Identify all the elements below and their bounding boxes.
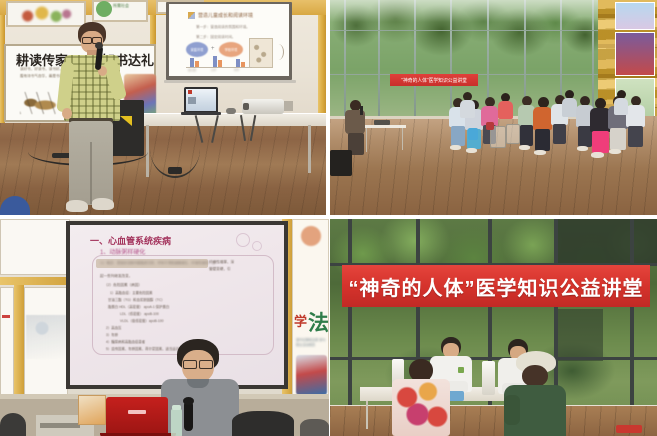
foot	[577, 146, 588, 151]
slide-body-4: LDL（低密度） apoB-100	[120, 311, 159, 316]
presenter-shoe-left	[66, 200, 88, 212]
projector-mount-arm	[284, 101, 293, 111]
poster-char-xue: 学	[294, 311, 307, 330]
slide-logo-mark	[188, 12, 195, 19]
slide-line-2: 起一些列继发改变。	[100, 274, 132, 279]
attendee-head-far-right	[300, 419, 329, 436]
panel-bottom-right-registration: “神奇的人体”医学知识公益讲堂	[330, 219, 657, 436]
whiteboard-left-bottom	[0, 287, 14, 397]
lecturer-glasses-left	[183, 360, 197, 369]
whiteboard-marker-red	[2, 315, 10, 318]
slide-decor-circle-2	[252, 241, 262, 251]
classroom-slide-scene: 一、心血管系统疾病 1、动脉粥样硬化 （1）概念：是指在动脉内膜脂质沉积，伴有平…	[0, 219, 329, 436]
slide-bar-2a	[213, 56, 217, 67]
slide-heading: 一、心血管系统疾病	[90, 234, 171, 247]
visitor-1	[392, 359, 450, 436]
handbag-blue	[468, 128, 478, 140]
torso	[392, 379, 450, 436]
wall-poster-middle	[615, 32, 655, 76]
slide-plus-sign: +	[211, 46, 215, 52]
poster-card-on-desk	[78, 395, 106, 425]
glass-mullion-v5	[630, 219, 634, 436]
registration-table-leg-left	[366, 401, 368, 429]
torso	[498, 101, 513, 119]
slide-body-0: （2）危险因素（病因）	[104, 283, 142, 288]
audience-member-4	[460, 92, 476, 124]
slide-title: 营造儿童成长和阅读环境	[198, 12, 253, 19]
poster-right-art-bottom	[296, 355, 327, 395]
red-object-on-floor	[616, 425, 642, 433]
foot	[609, 149, 621, 154]
torso	[562, 98, 577, 117]
handbag-red	[486, 122, 494, 130]
cable-adapter-box	[168, 167, 182, 174]
slide-bar-axis	[186, 67, 252, 68]
poster-right-subtext: 遵守纪律和法规 参与职业活动规范	[296, 337, 328, 347]
slide-circle-home: 家庭环境	[186, 42, 208, 57]
slide-circle-school-label: 学校环境	[225, 47, 238, 52]
presenter-glasses-left	[82, 37, 92, 44]
glass-mullion-h2	[330, 357, 657, 360]
panel-bottom-left-lecturer: 一、心血管系统疾病 1、动脉粥样硬化 （1）概念：是指在动脉内膜脂质沉积，伴有平…	[0, 219, 329, 436]
slide-circle-home-label: 家庭环境	[191, 47, 204, 52]
glass-glare	[330, 0, 598, 22]
slide-circle-school: 学校环境	[219, 42, 243, 57]
legs	[451, 126, 465, 146]
screen-roller-bar	[164, 80, 296, 83]
event-banner: “神奇的人体”医学知识公益讲堂	[390, 74, 478, 86]
visitor-arm	[504, 395, 520, 425]
whiteboard-left-top	[0, 219, 70, 275]
panel-top-left-speaker: 所需社会 耕读传家 知书达礼 读好书，好读书，读书好。 腹有诗书气自华，最是书香…	[0, 0, 326, 215]
registration-scene: “神奇的人体”医学知识公益讲堂	[330, 219, 657, 436]
red-laptop-lid	[106, 397, 168, 435]
stool-2	[506, 124, 520, 144]
torso	[460, 100, 475, 118]
presenter-shoe-right	[92, 198, 114, 210]
slide-sound-arc	[273, 44, 284, 60]
slide-body-5: VLDL（极低密度）apoB-100	[120, 318, 164, 323]
slide-body-2: 甘油三酯（TG）和血浆胆固醇（TC）	[108, 297, 165, 302]
legs	[553, 124, 566, 144]
poster-right-art-top	[296, 221, 326, 251]
water-bottle	[171, 409, 182, 436]
slide-decor-circle-1	[236, 233, 250, 247]
slide-body-7: 3）年龄	[106, 332, 118, 337]
projector-lens	[243, 103, 249, 110]
slide-body-1: 1）高脂血症：主要危险因素	[110, 290, 153, 295]
slide-body-8: 4）糖尿病和高脂血症患者	[106, 339, 145, 344]
dark-glass-panel-upper-right	[555, 219, 657, 265]
legs	[520, 125, 533, 146]
slide-line-2: 第二步：固定阅读时间。	[196, 35, 236, 40]
slide-body-6: 2）高血压	[106, 325, 121, 330]
lecturer-glasses-right	[199, 360, 213, 369]
foot	[534, 150, 546, 155]
slide-body-3: 脂蛋白 HDL（高密度） apoA-1 保护蛋白	[108, 304, 169, 309]
wall-pillar-right	[318, 15, 326, 127]
black-equipment-case	[330, 150, 352, 176]
atrium-scene: “神奇的人体”医学知识公益讲堂	[330, 0, 657, 215]
microphone-head	[95, 42, 103, 49]
slide-bar-2b	[218, 60, 222, 67]
uniform-badge	[458, 367, 464, 373]
measuring-device-right	[482, 361, 495, 395]
indoor-floor-planks	[330, 406, 657, 436]
poster-top-mid-text: 所需社会	[113, 3, 129, 9]
slide-bar-label-2: 小学	[211, 68, 216, 72]
slide-plus-label: +	[211, 46, 215, 52]
laptop-screen-logo	[188, 90, 192, 94]
poster-art-children	[14, 4, 76, 24]
attendee-head-front-left	[0, 413, 26, 436]
panel-top-right-audience: “神奇的人体”医学知识公益讲堂	[330, 0, 657, 215]
torso	[614, 98, 628, 115]
table-laptop	[374, 120, 390, 125]
mullion-horizontal-top	[330, 30, 598, 31]
event-banner-text: “神奇的人体”医学知识公益讲堂	[401, 77, 467, 84]
audience-member-12	[626, 96, 646, 154]
slide-bar-label-3: 中学	[234, 68, 239, 72]
visitor-2	[504, 351, 566, 436]
table-leg-right	[308, 125, 311, 173]
head	[522, 365, 548, 387]
wall-poster-upper	[615, 2, 655, 30]
registration-banner: “神奇的人体”医学知识公益讲堂	[342, 265, 650, 307]
desk-microphone	[184, 401, 193, 431]
audience-member-6	[533, 97, 553, 155]
foot	[450, 145, 461, 150]
slide-line-after-highlight: 纤维性增厚、深	[209, 260, 234, 265]
desk-microphone-head	[183, 397, 194, 405]
presenter-table-right-panel	[363, 125, 406, 128]
laptop-base	[181, 112, 221, 115]
trouser-crease	[90, 142, 92, 204]
slide-bar-label-1: 幼儿园	[188, 68, 196, 72]
poster-char-fa: 法	[308, 307, 329, 337]
desktop-computer-panel	[40, 423, 80, 428]
presenter-seated-mic	[360, 106, 363, 115]
slide-highlight-text: （1）概念：是指在动脉内膜脂质沉积，伴有平滑肌细胞增生，纤维性增厚、深	[98, 260, 215, 265]
legs	[610, 128, 626, 150]
foot	[591, 152, 604, 158]
glass-mullion-v3	[488, 219, 492, 436]
wall-frame-vertical-left	[14, 279, 24, 399]
foot	[466, 148, 477, 153]
slide-bar-3a	[236, 59, 240, 67]
registration-banner-text: “神奇的人体”医学知识公益讲堂	[349, 272, 644, 301]
attendee-head-front-right	[232, 411, 294, 436]
slide-line-continue: 管壁变硬，引	[209, 267, 231, 272]
legs	[592, 131, 609, 153]
red-laptop-logo	[128, 410, 146, 414]
legs	[628, 126, 643, 147]
presenter	[56, 22, 126, 215]
poster-green-circle	[96, 1, 112, 17]
lecture-room-scene: 所需社会 耕读传家 知书达礼 读好书，好读书，读书好。 腹有诗书气自华，最是书香…	[0, 0, 326, 215]
torso	[533, 107, 552, 130]
foot	[519, 145, 530, 150]
audience-member-14	[614, 90, 629, 120]
legs	[535, 129, 550, 151]
laptop-screen-thumb	[188, 97, 196, 104]
photo-collage: 所需社会 耕读传家 知书达礼 读好书，好读书，读书好。 腹有诗书气自华，最是书香…	[0, 0, 657, 436]
slide-book-image	[249, 38, 273, 68]
glass-mullion-v1	[348, 219, 352, 436]
remote-control-puck	[226, 108, 236, 114]
slide-line-1: 第一步：营造阅读的氛围和环境。	[196, 25, 250, 30]
presenter-table-leg-2	[402, 128, 403, 150]
water-bottle-cap	[172, 405, 181, 410]
whiteboard-diagram	[26, 315, 66, 359]
slide-bar-1a	[190, 58, 194, 67]
